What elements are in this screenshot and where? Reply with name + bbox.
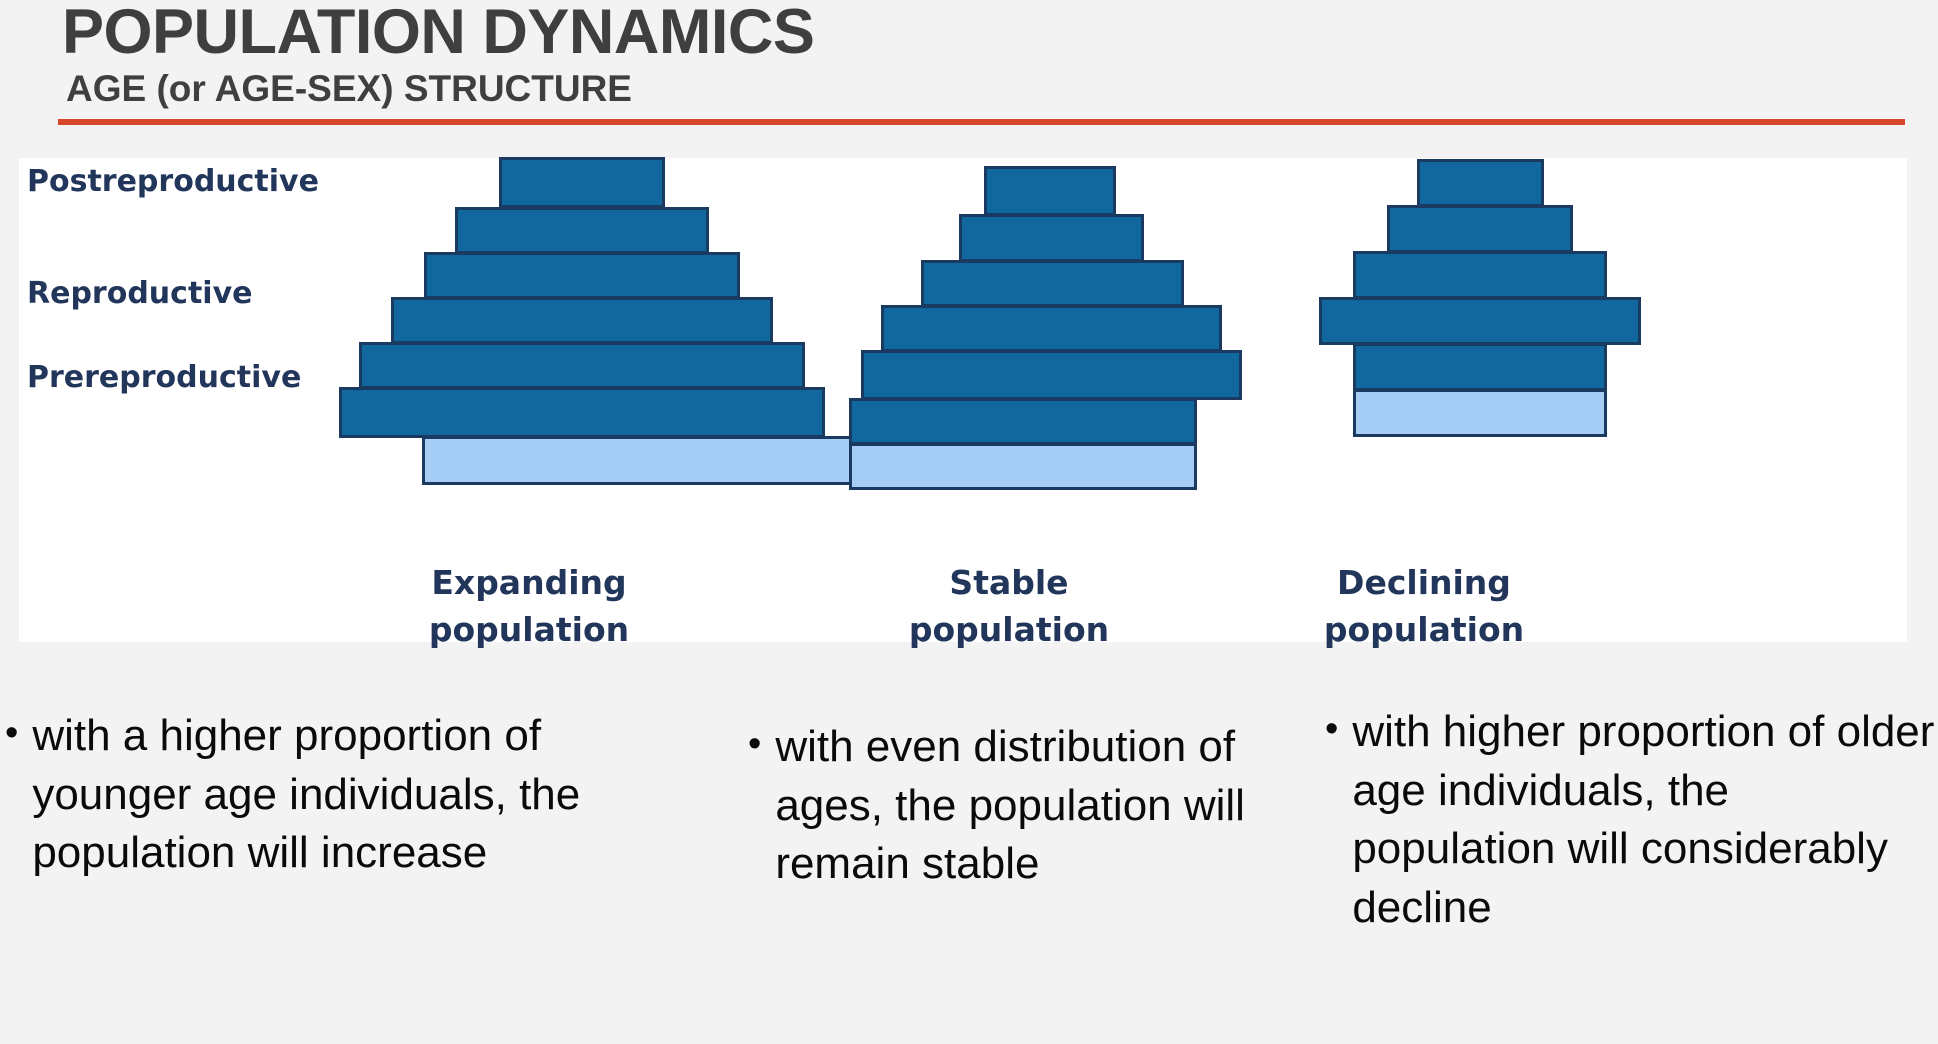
tier-postreproductive-low [455, 207, 709, 254]
caption-stable-population: Stable population [849, 560, 1169, 654]
bullet-marker: • [5, 707, 18, 759]
bullet-text-expanding: with a higher proportion of younger age … [32, 707, 635, 883]
tier-reproductive-high [1353, 251, 1607, 299]
tier-reproductive-high [921, 260, 1184, 307]
age-structure-figure: Postreproductive Reproductive Prereprodu… [19, 158, 1907, 642]
tier-reproductive-base [849, 398, 1197, 445]
axis-label-prereproductive: Prereproductive [27, 360, 301, 395]
bullet-text-stable: with even distribution of ages, the popu… [775, 718, 1308, 894]
caption-declining-population: Declining population [1264, 560, 1584, 654]
page-title: POPULATION DYNAMICS [62, 0, 814, 68]
axis-label-reproductive: Reproductive [27, 276, 252, 311]
bullet-text-declining: with higher proportion of older age indi… [1352, 703, 1938, 937]
list-item: • with even distribution of ages, the po… [748, 718, 1308, 894]
tier-reproductive-low [1353, 343, 1607, 391]
caption-line-1: Expanding [369, 560, 689, 607]
caption-line-2: population [849, 607, 1169, 654]
tier-postreproductive-high [984, 166, 1116, 216]
tier-reproductive-low [861, 350, 1242, 400]
tier-reproductive-low [359, 342, 805, 389]
tier-prereproductive [1353, 389, 1607, 437]
page-subtitle: AGE (or AGE-SEX) STRUCTURE [66, 68, 632, 110]
tier-reproductive-mid [391, 297, 773, 344]
tier-postreproductive-high [499, 157, 665, 208]
tier-reproductive-mid [881, 305, 1222, 352]
tier-reproductive-base [339, 387, 825, 438]
tier-postreproductive-high [1417, 159, 1544, 207]
axis-label-postreproductive: Postreproductive [27, 164, 319, 199]
slide-header: POPULATION DYNAMICS AGE (or AGE-SEX) STR… [0, 0, 1938, 158]
bullet-marker: • [1325, 703, 1338, 755]
tier-postreproductive-low [1387, 205, 1573, 253]
list-item: • with higher proportion of older age in… [1325, 703, 1938, 937]
tier-reproductive-bulge [1319, 297, 1641, 345]
title-divider [58, 119, 1905, 125]
caption-line-2: population [369, 607, 689, 654]
caption-line-1: Declining [1264, 560, 1584, 607]
bullet-marker: • [748, 718, 761, 770]
caption-expanding-population: Expanding population [369, 560, 689, 654]
tier-postreproductive-low [959, 214, 1144, 262]
pyramid-declining-population [1249, 158, 1869, 508]
caption-line-1: Stable [849, 560, 1169, 607]
caption-line-2: population [1264, 607, 1584, 654]
tier-prereproductive [849, 443, 1197, 490]
tier-reproductive-high [424, 252, 740, 299]
list-item: • with a higher proportion of younger ag… [5, 707, 635, 883]
